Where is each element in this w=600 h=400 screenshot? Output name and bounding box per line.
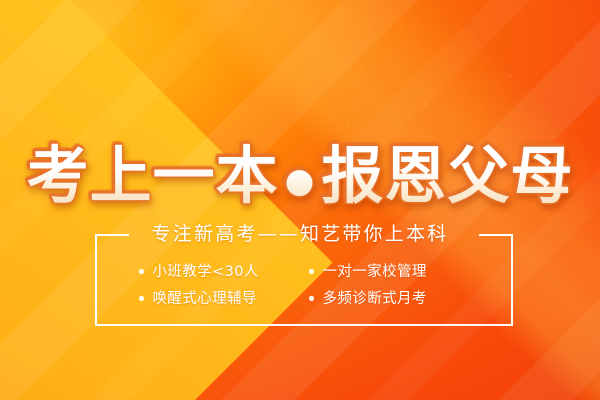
feature-item: 一对一家校管理 xyxy=(309,262,469,282)
bullet-dot-icon xyxy=(309,269,314,274)
feature-item: 唤醒式心理辅导 xyxy=(139,289,291,309)
frame-right-bottom-stub xyxy=(299,324,513,326)
subtitle: 专注新高考——知艺带你上本科 xyxy=(142,222,459,246)
headline: 考上一本●报恩父母 xyxy=(0,142,600,215)
feature-list: 小班教学<30人 一对一家校管理 唤醒式心理辅导 多频诊断式月考 xyxy=(95,258,513,312)
feature-label: 小班教学<30人 xyxy=(153,262,259,282)
banner-content: 考上一本●报恩父母 专注新高考——知艺带你上本科 小班教学<30人 一对一家校管… xyxy=(0,0,600,400)
bullet-dot-icon xyxy=(139,269,144,274)
frame-left-top-stub xyxy=(95,234,129,236)
feature-label: 一对一家校管理 xyxy=(323,262,427,282)
headline-left-text: 考上一本 xyxy=(27,139,279,212)
feature-label: 唤醒式心理辅导 xyxy=(153,289,257,309)
promo-banner: 考上一本●报恩父母 专注新高考——知艺带你上本科 小班教学<30人 一对一家校管… xyxy=(0,0,600,400)
bullet-dot-icon xyxy=(139,296,144,301)
headline-separator-dot-icon: ● xyxy=(279,161,322,201)
headline-right-text: 报恩父母 xyxy=(321,139,573,212)
frame-left-bottom-stub xyxy=(95,324,309,326)
bullet-dot-icon xyxy=(309,296,314,301)
frame-right-top-stub xyxy=(479,234,513,236)
feature-item: 多频诊断式月考 xyxy=(309,289,469,309)
feature-item: 小班教学<30人 xyxy=(139,262,291,282)
feature-label: 多频诊断式月考 xyxy=(323,289,427,309)
